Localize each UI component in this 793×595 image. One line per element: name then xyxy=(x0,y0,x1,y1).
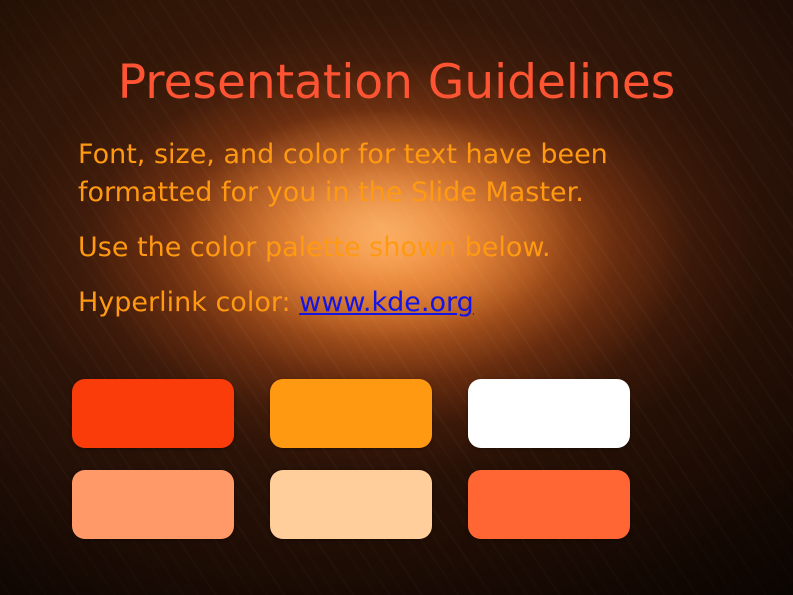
swatch-red-orange xyxy=(72,379,234,448)
color-palette xyxy=(72,379,630,539)
slide-title: Presentation Guidelines xyxy=(0,57,793,109)
hyperlink-label-prefix: Hyperlink color: xyxy=(78,287,299,318)
presentation-slide: Presentation Guidelines Font, size, and … xyxy=(0,0,793,595)
slide-body: Font, size, and color for text have been… xyxy=(78,136,678,322)
body-paragraph-3: Hyperlink color: www.kde.org xyxy=(78,284,678,322)
body-paragraph-2: Use the color palette shown below. xyxy=(78,229,678,267)
slide-content: Presentation Guidelines Font, size, and … xyxy=(0,0,793,595)
swatch-orange xyxy=(468,470,630,539)
swatch-amber xyxy=(270,379,432,448)
swatch-salmon xyxy=(72,470,234,539)
hyperlink-kde-org[interactable]: www.kde.org xyxy=(299,287,474,318)
swatch-pale-peach xyxy=(270,470,432,539)
swatch-white xyxy=(468,379,630,448)
body-paragraph-1: Font, size, and color for text have been… xyxy=(78,136,643,212)
